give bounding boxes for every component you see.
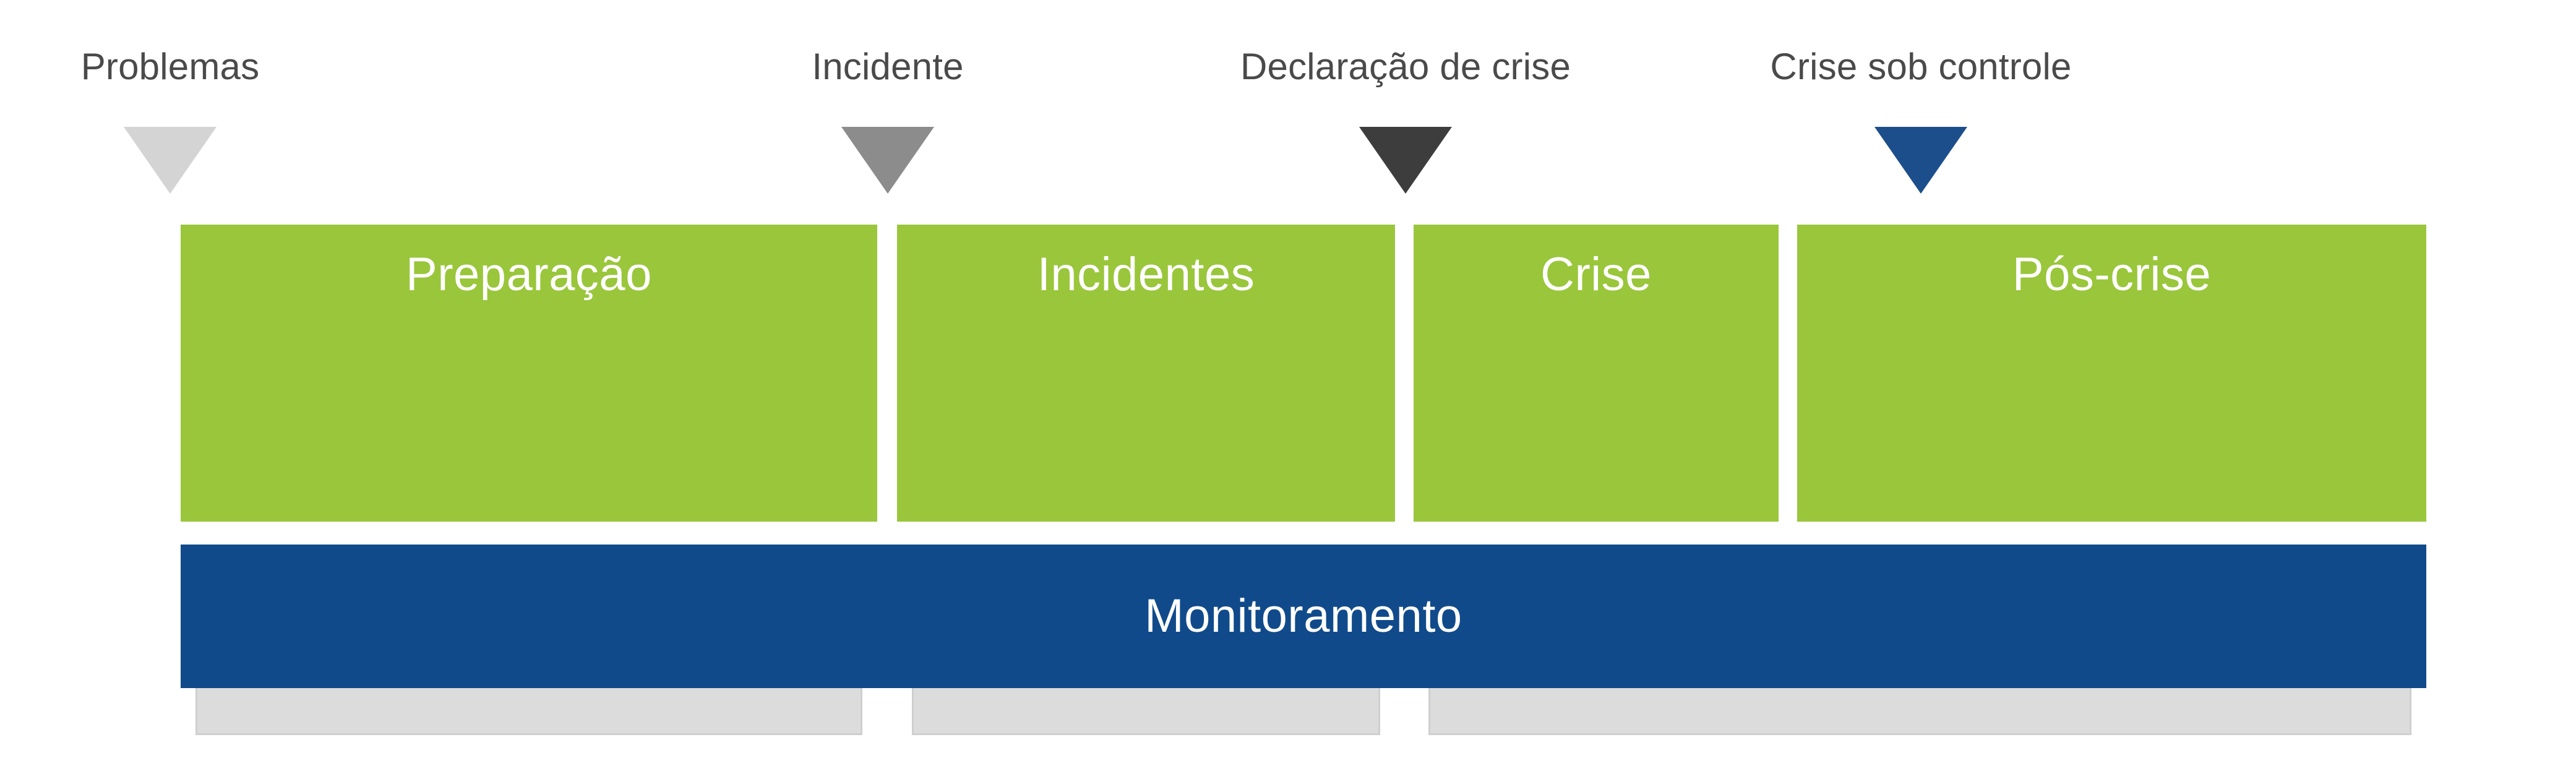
monitoring-bar[interactable]: Monitoramento bbox=[181, 545, 2426, 688]
triangle-down-icon bbox=[124, 127, 217, 194]
phase-title-pos-crise: Pós-crise bbox=[1797, 225, 2426, 325]
triangle-down-icon bbox=[1359, 127, 1452, 194]
phase-title-crise: Crise bbox=[1414, 225, 1779, 325]
triangle-down-icon bbox=[1874, 127, 1967, 194]
phase-band: Preparação Incidentes Crise Pós-crise Li… bbox=[181, 225, 2426, 522]
marker-incidente: Incidente bbox=[779, 0, 996, 198]
phase-column-crise[interactable]: Crise bbox=[1414, 225, 1779, 522]
crisis-management-phases-diagram: Problemas Incidente Declaração de crise … bbox=[0, 0, 2576, 784]
marker-problemas: Problemas bbox=[62, 0, 278, 198]
marker-crise-sob-controle: Crise sob controle bbox=[1813, 0, 2029, 198]
marker-label-declaracao-de-crise: Declaração de crise bbox=[1240, 48, 1571, 85]
phase-column-pos-crise[interactable]: Pós-crise bbox=[1797, 225, 2426, 522]
triangle-down-icon bbox=[841, 127, 934, 194]
phase-title-preparacao: Preparação bbox=[181, 225, 877, 325]
phase-column-incidentes[interactable]: Incidentes bbox=[897, 225, 1395, 522]
marker-label-incidente: Incidente bbox=[812, 48, 963, 85]
marker-label-problemas: Problemas bbox=[81, 48, 260, 85]
phase-column-preparacao[interactable]: Preparação bbox=[181, 225, 877, 522]
monitoring-label: Monitoramento bbox=[1144, 593, 1462, 640]
marker-label-crise-sob-controle: Crise sob controle bbox=[1770, 48, 2071, 85]
marker-declaracao-de-crise: Declaração de crise bbox=[1297, 0, 1514, 198]
phase-title-incidentes: Incidentes bbox=[897, 225, 1395, 325]
